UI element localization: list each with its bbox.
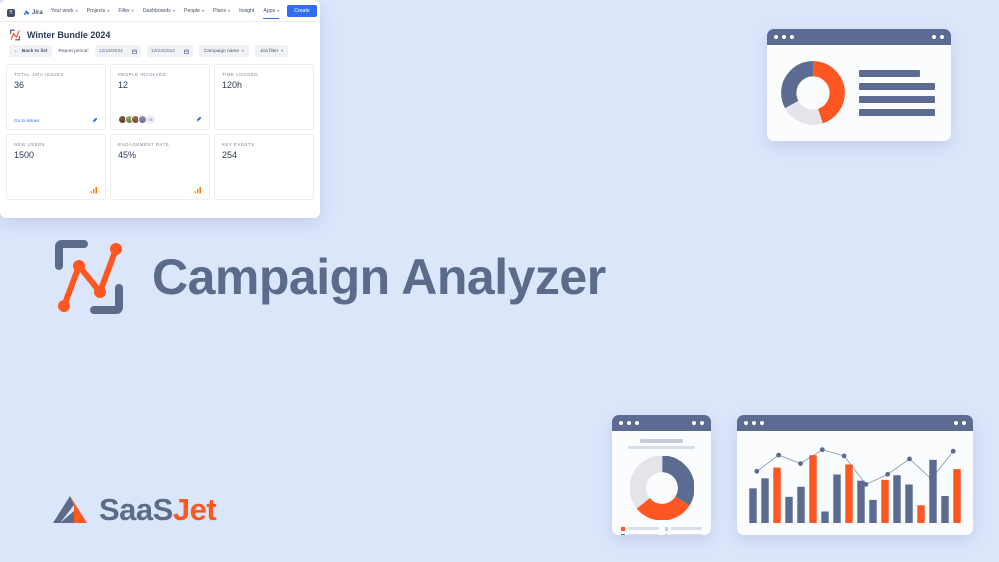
window-dot	[932, 35, 936, 39]
chart-bar	[953, 469, 960, 523]
arrow-left-icon: ←	[14, 49, 19, 54]
chart-trend-point	[951, 449, 956, 454]
card-body	[612, 431, 711, 535]
window-dot	[774, 35, 778, 39]
window-dot	[760, 421, 764, 425]
kpi-label: PEOPLE INVOLVED	[118, 72, 202, 77]
placeholder-line	[640, 439, 682, 443]
date-to-value: 12/23/2024	[151, 49, 175, 54]
kpi-value: 12	[118, 80, 202, 90]
donut-chart-icon	[781, 61, 845, 125]
kpi-card-time-logged: TIME LOGGED 120h	[214, 64, 314, 130]
window-dot	[940, 35, 944, 39]
chevron-down-icon: ▾	[173, 9, 175, 13]
legend-item	[621, 534, 659, 536]
jira-app-panel: ⠿ Jira Your work ▾ Projects ▾ Filter ▾ D…	[0, 0, 320, 218]
chart-legend	[621, 527, 702, 535]
chart-trend-point	[885, 472, 890, 477]
kpi-card-total-jira-issues: TOTAL JIRA ISSUES 36 Go to issues	[6, 64, 106, 130]
chevron-down-icon: ▾	[202, 9, 204, 13]
nav-label: Dashboards	[143, 8, 171, 14]
nav-label: Projects	[87, 8, 106, 14]
chevron-down-icon: ▾	[277, 9, 279, 13]
chart-bar	[773, 468, 780, 523]
calendar-icon	[184, 49, 189, 54]
report-heading-placeholder	[621, 439, 702, 449]
nav-item-people[interactable]: People ▾	[184, 8, 204, 19]
panel-title-row: Winter Bundle 2024	[0, 22, 320, 45]
chart-trend-point	[929, 477, 934, 482]
chart-bar	[785, 497, 792, 523]
panel-toolbar: ← Back to list Report period: 12/16/2024…	[0, 45, 320, 64]
chevron-down-icon: ▾	[281, 49, 283, 53]
chart-trend-point	[798, 461, 803, 466]
kpi-footer	[14, 186, 98, 194]
bar-line-combo-chart-icon	[747, 440, 963, 525]
chart-bar	[809, 455, 816, 523]
campaign-name-value: Campaign name	[204, 49, 239, 54]
nav-label: Insight	[239, 8, 254, 14]
window-dot	[962, 421, 966, 425]
chart-bar	[941, 496, 948, 523]
placeholder-line	[859, 96, 935, 103]
window-dot	[700, 421, 704, 425]
avatar-group[interactable]: +8	[118, 115, 155, 124]
chevron-down-icon: ▾	[228, 9, 230, 13]
brand-name: SaaSJet	[99, 492, 216, 528]
legend-swatch	[621, 534, 625, 536]
kpi-grid: TOTAL JIRA ISSUES 36 Go to issues PEOPLE…	[0, 64, 320, 208]
kpi-footer: +8	[118, 115, 202, 124]
apps-switcher-icon[interactable]: ⠿	[7, 9, 15, 17]
kpi-value: 1500	[14, 150, 98, 160]
chart-bar	[797, 487, 804, 523]
legend-label-placeholder	[671, 527, 702, 530]
chart-trend-point	[754, 469, 759, 474]
avatar-overflow-count: +8	[146, 115, 155, 124]
jira-logo-text: Jira	[32, 10, 43, 16]
window-dot	[782, 35, 786, 39]
window-dot	[790, 35, 794, 39]
jira-top-nav: ⠿ Jira Your work ▾ Projects ▾ Filter ▾ D…	[0, 0, 320, 22]
chart-trend-point	[842, 454, 847, 459]
back-to-list-button[interactable]: ← Back to list	[9, 45, 52, 57]
go-to-issues-link[interactable]: Go to issues	[14, 118, 40, 123]
jira-filter-select[interactable]: Jira filter ▾	[255, 45, 288, 57]
chart-bar	[857, 481, 864, 523]
window-dots-right	[932, 35, 944, 39]
kpi-label: KEY EVENTS	[222, 142, 306, 147]
nav-item-your-work[interactable]: Your work ▾	[51, 8, 78, 19]
kpi-label: NEW USERS	[14, 142, 98, 147]
date-from-input[interactable]: 12/16/2024	[95, 45, 141, 57]
chart-trend-point	[820, 447, 825, 452]
chevron-down-icon: ▾	[242, 49, 244, 53]
legend-swatch	[665, 527, 669, 531]
nav-item-dashboards[interactable]: Dashboards ▾	[143, 8, 175, 19]
jira-logo-icon[interactable]: Jira	[23, 10, 43, 17]
chevron-down-icon: ▾	[76, 9, 78, 13]
saasjet-logo-icon	[50, 493, 90, 527]
card-bar-line-chart	[737, 415, 973, 535]
calendar-icon	[132, 49, 137, 54]
window-dot	[619, 421, 623, 425]
rocket-icon	[195, 116, 202, 123]
chart-bar	[821, 511, 828, 523]
chart-trend-point	[776, 453, 781, 458]
text-placeholder-lines	[859, 70, 935, 116]
chart-bar	[881, 480, 888, 523]
window-dot	[635, 421, 639, 425]
card-donut-report	[612, 415, 711, 535]
chevron-down-icon: ▾	[107, 9, 109, 13]
campaign-analyzer-logo-icon	[50, 236, 128, 318]
window-titlebar	[767, 29, 951, 45]
kpi-footer: Go to issues	[14, 117, 98, 124]
report-period-label: Report period:	[58, 49, 88, 54]
legend-item	[621, 527, 659, 531]
chart-bar	[761, 478, 768, 523]
window-dots-right	[954, 421, 966, 425]
window-titlebar	[737, 415, 973, 431]
nav-label: Apps	[263, 8, 275, 14]
chart-trend-point	[864, 482, 869, 487]
window-dots-left	[744, 421, 764, 425]
panel-title: Winter Bundle 2024	[27, 30, 110, 40]
chart-bar	[905, 485, 912, 524]
kpi-value: 120h	[222, 80, 306, 90]
chart-trend-line	[757, 450, 953, 485]
brand-name-jet: Jet	[173, 492, 216, 527]
chart-bar	[749, 488, 756, 523]
rocket-icon	[91, 117, 98, 124]
chart-bar	[893, 475, 900, 523]
kpi-label: ENGAGEMENT RATE	[118, 142, 202, 147]
kpi-value: 254	[222, 150, 306, 160]
placeholder-line	[628, 446, 694, 450]
nav-item-insight[interactable]: Insight	[239, 8, 254, 19]
nav-label: People	[184, 8, 200, 14]
legend-label-placeholder	[628, 527, 659, 530]
nav-label: Your work	[51, 8, 74, 14]
jira-filter-value: Jira filter	[260, 49, 278, 54]
jira-nav-items: Your work ▾ Projects ▾ Filter ▾ Dashboar…	[51, 8, 280, 19]
nav-item-filter[interactable]: Filter ▾	[118, 8, 134, 19]
kpi-value: 45%	[118, 150, 202, 160]
nav-item-plans[interactable]: Plans ▾	[213, 8, 230, 19]
chevron-down-icon: ▾	[132, 9, 134, 13]
saasjet-brand: SaaSJet	[50, 492, 216, 528]
window-dot	[744, 421, 748, 425]
brand-name-saas: SaaS	[99, 492, 173, 527]
hero-block: Campaign Analyzer	[50, 236, 606, 318]
card-body	[767, 45, 951, 141]
date-from-value: 12/16/2024	[99, 49, 123, 54]
jira-mark-icon	[23, 10, 30, 17]
window-dot	[627, 421, 631, 425]
window-dot	[954, 421, 958, 425]
placeholder-line	[859, 70, 920, 77]
nav-label: Plans	[213, 8, 226, 14]
card-donut-lines	[767, 29, 951, 141]
placeholder-line	[859, 109, 935, 116]
window-dot	[692, 421, 696, 425]
campaign-name-select[interactable]: Campaign name ▾	[199, 45, 249, 57]
legend-label-placeholder	[671, 534, 702, 535]
chart-bar	[917, 505, 924, 523]
page-title: Campaign Analyzer	[152, 248, 606, 306]
create-button[interactable]: Create	[287, 5, 317, 17]
chart-bar	[845, 464, 852, 523]
window-titlebar	[612, 415, 711, 431]
kpi-card-engagement-rate: ENGAGEMENT RATE 45%	[110, 134, 210, 200]
back-to-list-label: Back to list	[22, 49, 48, 54]
chart-bar	[833, 474, 840, 523]
card-body	[737, 431, 973, 535]
chart-bar	[869, 500, 876, 523]
legend-swatch	[621, 527, 625, 531]
date-to-input[interactable]: 12/23/2024	[147, 45, 193, 57]
kpi-footer	[118, 186, 202, 194]
nav-item-apps[interactable]: Apps ▾	[263, 8, 279, 19]
kpi-label: TOTAL JIRA ISSUES	[14, 72, 98, 77]
nav-label: Filter	[118, 8, 130, 14]
kpi-card-key-events: KEY EVENTS 254	[214, 134, 314, 200]
nav-item-projects[interactable]: Projects ▾	[87, 8, 110, 19]
placeholder-line	[859, 83, 935, 90]
window-dots-left	[774, 35, 794, 39]
chart-trend-point	[907, 457, 912, 462]
window-dots-left	[619, 421, 639, 425]
bar-chart-icon	[90, 186, 98, 194]
kpi-label: TIME LOGGED	[222, 72, 306, 77]
kpi-card-new-users: NEW USERS 1500	[6, 134, 106, 200]
window-dots-right	[692, 421, 704, 425]
donut-chart-icon	[630, 456, 694, 520]
legend-item	[665, 534, 703, 536]
legend-item	[665, 527, 703, 531]
bar-chart-icon	[194, 186, 202, 194]
legend-label-placeholder	[628, 534, 659, 535]
legend-swatch	[665, 534, 669, 536]
kpi-value: 36	[14, 80, 98, 90]
campaign-analyzer-small-icon	[9, 29, 21, 41]
kpi-card-people-involved: PEOPLE INVOLVED 12 +8	[110, 64, 210, 130]
window-dot	[752, 421, 756, 425]
chart-bar	[929, 460, 936, 523]
